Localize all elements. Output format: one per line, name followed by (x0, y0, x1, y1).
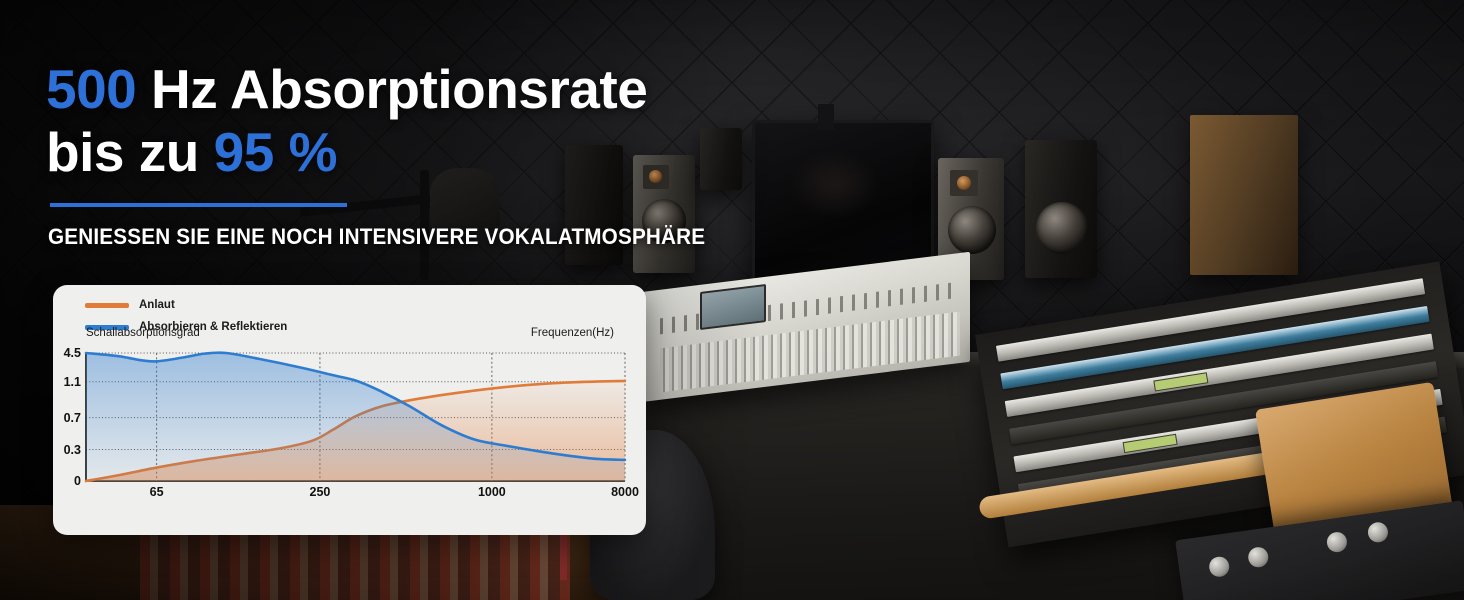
chart-plot-area (53, 343, 646, 535)
mixer-knob (1208, 555, 1231, 578)
chart-svg (53, 343, 646, 535)
legend-item-anlaut: Anlaut (85, 295, 287, 315)
console-display (700, 284, 766, 330)
promo-banner: 500 Hz Absorptionsrate bis zu 95 % GENIE… (0, 0, 1464, 600)
woofer-cone (1036, 202, 1088, 254)
rack-lcd (1122, 434, 1177, 453)
rack-lcd (1153, 372, 1208, 391)
headline-line-2-text: bis zu (46, 121, 214, 183)
mixer-knob (1367, 521, 1390, 544)
accent-divider (50, 203, 347, 207)
headline-line-1: 500 Hz Absorptionsrate (46, 58, 746, 121)
speaker-wood-cabinet (1190, 115, 1298, 275)
headline-line-1-text: Hz Absorptionsrate (136, 58, 647, 120)
headline-block: 500 Hz Absorptionsrate bis zu 95 % (46, 58, 746, 184)
y-axis-label: Schallabsorptionsgrad (86, 327, 200, 339)
tweeter-icon (957, 176, 971, 190)
headline-accent-500: 500 (46, 58, 136, 120)
headline-line-2: bis zu 95 % (46, 121, 746, 184)
speaker-right-rear (1025, 140, 1097, 278)
mixer-knob (1326, 531, 1349, 554)
headline-accent-95: 95 % (214, 121, 337, 183)
subheadline: GENIESSEN SIE EINE NOCH INTENSIVERE VOKA… (48, 224, 705, 250)
mixer-knob (1247, 546, 1270, 569)
x-axis-label: Frequenzen(Hz) (531, 327, 614, 339)
legend-label-anlaut: Anlaut (139, 299, 175, 311)
monitor-arm (818, 104, 834, 130)
absorption-chart-card: Anlaut Absorbieren & Reflektieren Schall… (53, 285, 646, 535)
legend-swatch-anlaut (85, 303, 129, 308)
woofer-cone (948, 206, 996, 254)
screen-reflection (790, 150, 880, 220)
